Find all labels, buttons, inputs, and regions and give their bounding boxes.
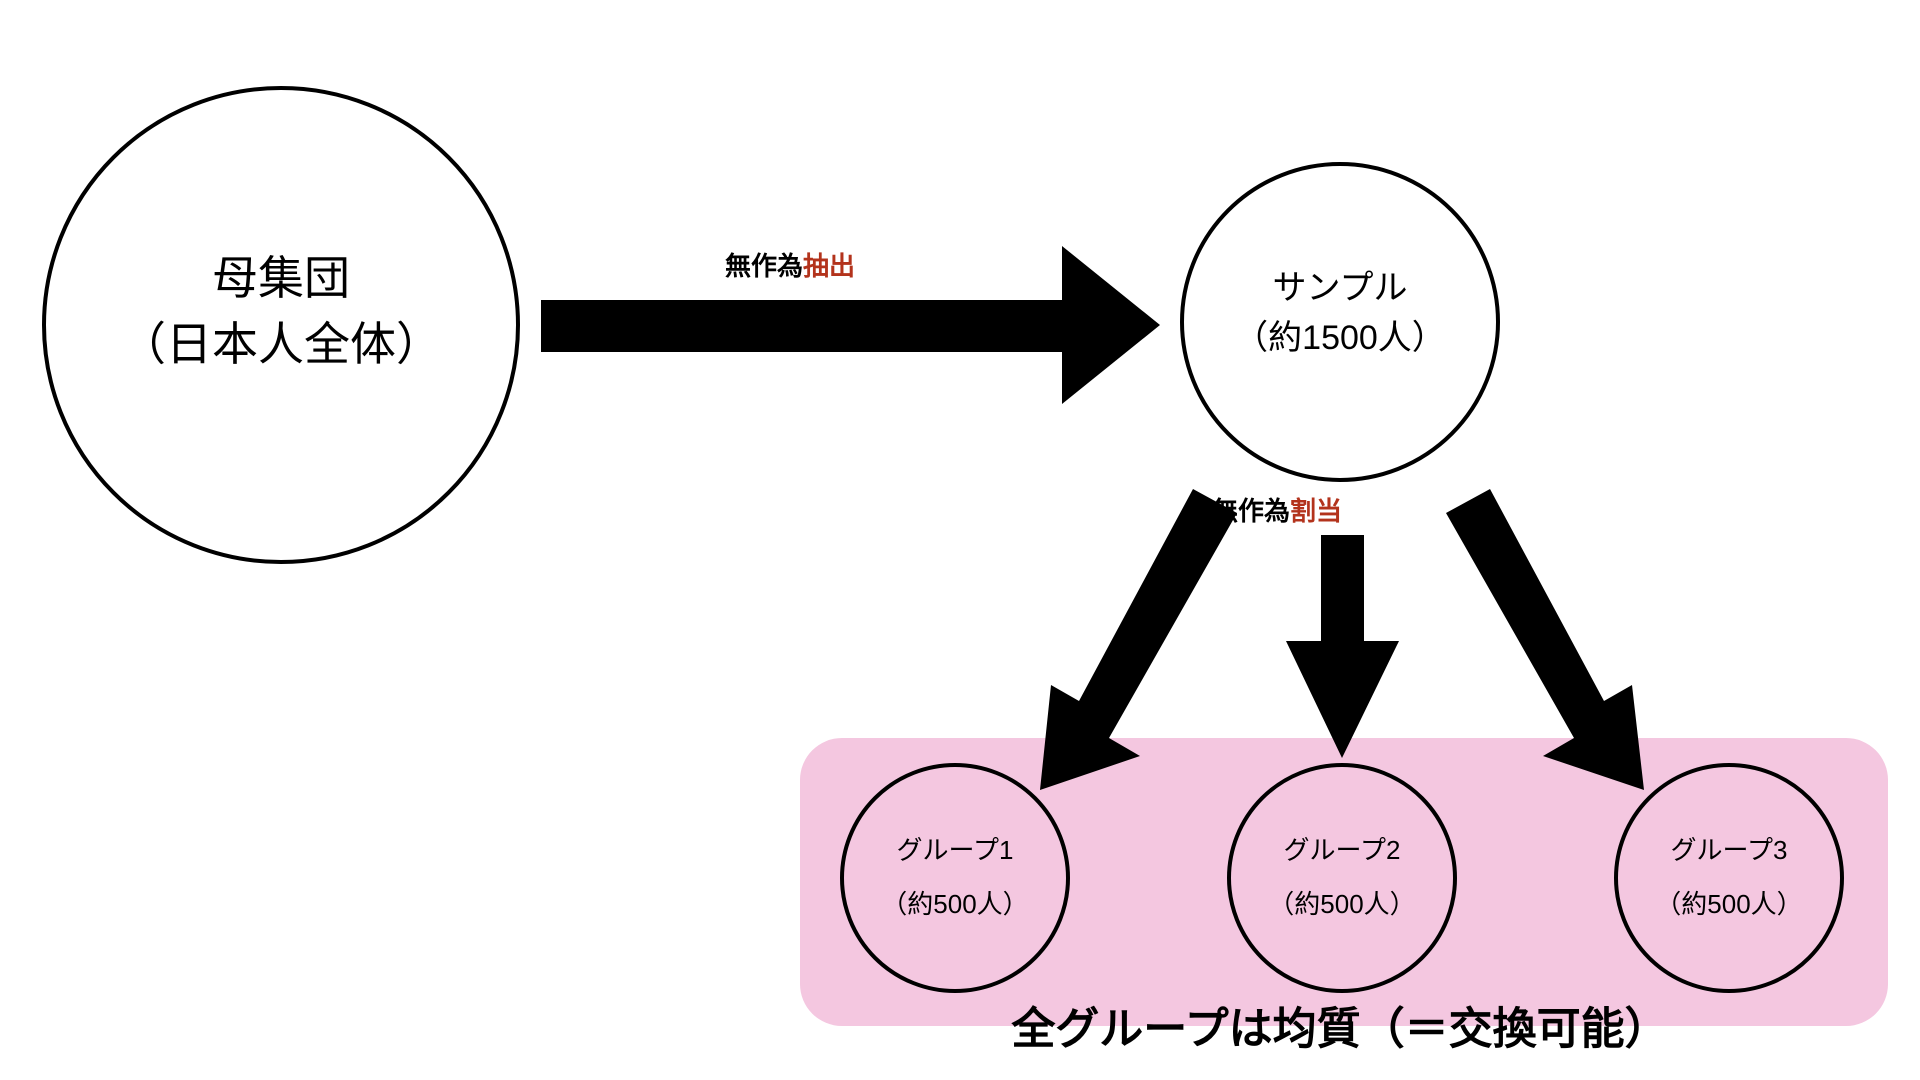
group-2-label-line1: グループ2 xyxy=(1284,835,1401,865)
group-2-label-line2: （約500人） xyxy=(1268,889,1415,919)
group-3-label-line1: グループ3 xyxy=(1671,835,1788,865)
allocation-arrow-center xyxy=(1286,535,1399,758)
allocation-label-red: 割当 xyxy=(1290,496,1342,526)
group-1-label-line1: グループ1 xyxy=(897,835,1014,865)
sample-label-line1: サンプル xyxy=(1273,269,1408,307)
group-3-label-line2: （約500人） xyxy=(1655,889,1802,919)
sampling-arrow-label: 無作為抽出 xyxy=(725,251,855,281)
sampling-label-black: 無作為 xyxy=(725,251,803,281)
allocation-arrow-label: 無作為割当 xyxy=(1212,496,1342,526)
homogeneity-caption: 全グループは均質（＝交換可能） xyxy=(1010,1004,1668,1054)
randomization-diagram: 母集団 （日本人全体） 無作為抽出 サンプル （約1500人） 無作為割当 グル… xyxy=(0,0,1920,1080)
sampling-label-red: 抽出 xyxy=(803,251,855,281)
population-label-line1: 母集団 xyxy=(212,252,350,304)
homogeneous-groups-panel xyxy=(800,738,1888,1026)
group-1-label-line2: （約500人） xyxy=(881,889,1028,919)
diagram-canvas: 母集団 （日本人全体） 無作為抽出 サンプル （約1500人） 無作為割当 グル… xyxy=(0,0,1920,1080)
allocation-label-black: 無作為 xyxy=(1212,496,1290,526)
sample-label-line2: （約1500人） xyxy=(1234,319,1446,357)
population-label-line2: （日本人全体） xyxy=(120,318,442,370)
